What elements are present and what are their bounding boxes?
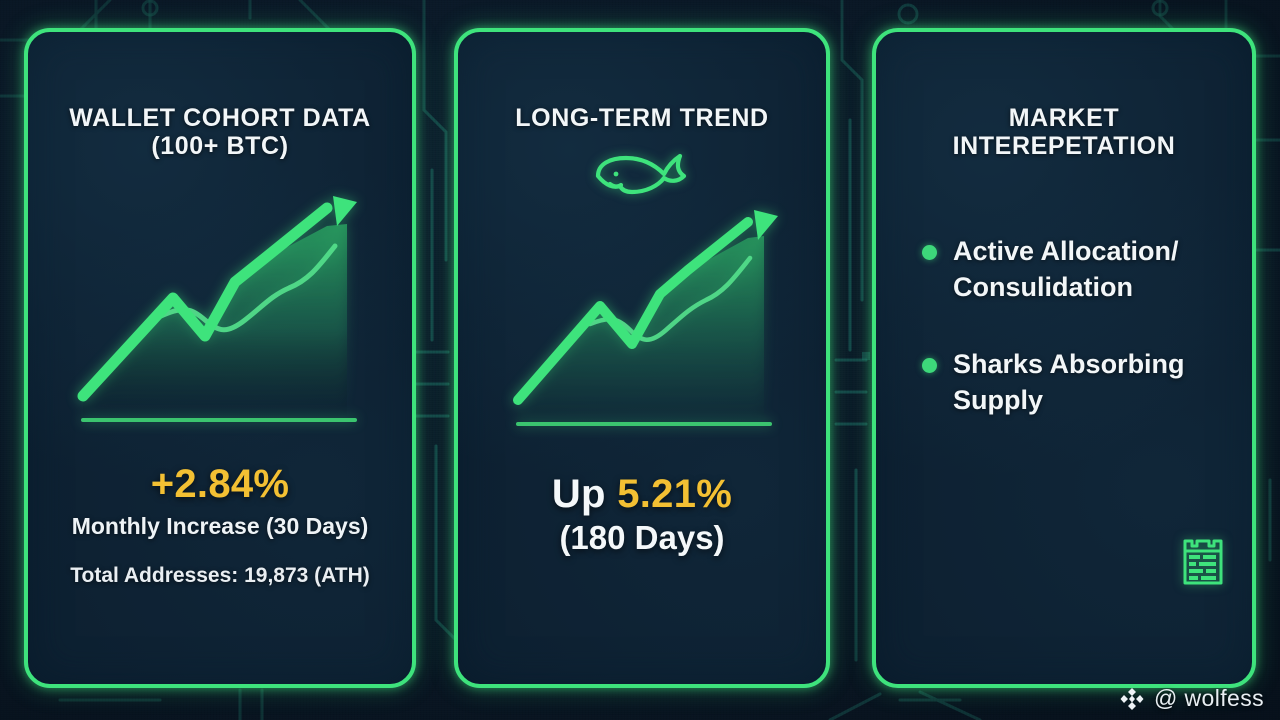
binance-diamond-icon (1119, 686, 1145, 712)
card-long-term-trend: LONG-TERM TREND (454, 28, 830, 688)
watermark-handle: @ wolfess (1154, 685, 1264, 712)
card-2-title-line1: LONG-TERM TREND (515, 104, 768, 132)
card-2-title: LONG-TERM TREND (478, 104, 806, 132)
card-2-stat-prefix: Up (552, 472, 617, 516)
card-1-stat-value: +2.84% (48, 462, 392, 507)
bullet-dot-icon (922, 245, 937, 260)
card-1-title: WALLET COHORT DATA (100+ BTC) (48, 104, 392, 160)
card-2-stat-value: Up 5.21% (478, 472, 806, 517)
bullet-label: Sharks Absorbing Supply (953, 347, 1218, 418)
rising-arrow-chart-icon (65, 188, 375, 438)
card-wallet-cohort-data: WALLET COHORT DATA (100+ BTC) (24, 28, 416, 688)
card-2-stats: Up 5.21% (180 Days) (478, 472, 806, 557)
whale-icon (588, 144, 696, 200)
card-1-stats: +2.84% Monthly Increase (30 Days) Total … (48, 462, 392, 588)
card-2-stat-period: (180 Days) (478, 519, 806, 557)
list-item: Sharks Absorbing Supply (922, 347, 1218, 418)
bullet-label: Active Allocation/ Consulidation (953, 234, 1218, 305)
card-2-stat-percent: 5.21% (617, 472, 732, 516)
card-1-title-line1: WALLET COHORT DATA (69, 104, 371, 132)
card-1-stat-detail: Total Addresses: 19,873 (ATH) (48, 564, 392, 588)
card-3-title-line2: INTEREPETATION (896, 132, 1232, 160)
card-1-title-line2: (100+ BTC) (48, 132, 392, 160)
card-1-chart (48, 188, 392, 438)
card-2-chart (478, 204, 806, 444)
rising-arrow-chart-icon (502, 204, 782, 444)
chart-arrowhead-icon (333, 196, 357, 226)
bullet-dot-icon (922, 358, 937, 373)
chart-arrowhead-icon (754, 210, 778, 240)
fortress-tower-icon (1180, 535, 1226, 587)
card-1-stat-caption: Monthly Increase (30 Days) (48, 513, 392, 540)
card-3-title-line1: MARKET (1009, 104, 1120, 132)
list-item: Active Allocation/ Consulidation (922, 234, 1218, 305)
card-3-bullet-list: Active Allocation/ Consulidation Sharks … (896, 234, 1232, 419)
watermark: @ wolfess (1119, 685, 1264, 712)
card-market-interepetation: MARKET INTEREPETATION Active Allocation/… (872, 28, 1256, 688)
card-2-whale (478, 144, 806, 200)
card-3-title: MARKET INTEREPETATION (896, 104, 1232, 160)
card-3-corner-icon (1180, 535, 1226, 592)
